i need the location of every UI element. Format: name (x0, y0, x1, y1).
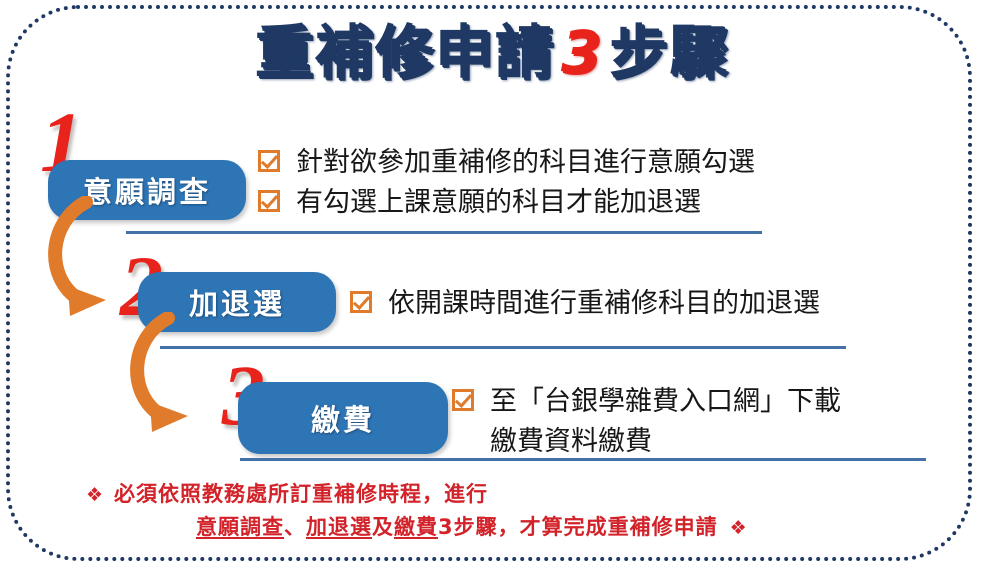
footer-note-tail: 3步驟，才算完成重補修申請 (438, 515, 718, 539)
footer-notes: ❖必須依照教務處所訂重補修時程，進行 意願調查、加退選及繳費3步驟，才算完成重補… (0, 478, 984, 544)
step-bullets-3: 至「台銀學雜費入口網」下載 繳費資料繳費 (452, 381, 841, 461)
step-bullets-1: 針對欲參加重補修的科目進行意願勾選 有勾選上課意願的科目才能加退選 (258, 142, 755, 222)
footer-link-intent-survey: 意願調查 (196, 515, 284, 539)
bullet-row: 至「台銀學雜費入口網」下載 繳費資料繳費 (452, 381, 841, 461)
bullet-text: 依開課時間進行重補修科目的加退選 (388, 283, 820, 323)
bullet-row: 有勾選上課意願的科目才能加退選 (258, 182, 755, 222)
poster-canvas: 重補修申請3步驟 1 2 3 意願調查 加退選 繳費 針對欲參加重補修的科目進行… (0, 0, 984, 571)
bullet-text: 有勾選上課意願的科目才能加退選 (296, 182, 701, 222)
footer-link-add-drop: 加退選 (306, 515, 372, 539)
checked-checkbox-icon (452, 389, 474, 411)
diamond-bullet-icon: ❖ (86, 484, 104, 506)
step-bullets-2: 依開課時間進行重補修科目的加退選 (350, 283, 820, 323)
page-title-prefix: 重補修申請 (255, 18, 555, 86)
page-title-number: 3 (561, 18, 603, 86)
bullet-text-group: 至「台銀學雜費入口網」下載 繳費資料繳費 (490, 381, 841, 461)
bullet-text-line-1: 至「台銀學雜費入口網」下載 (490, 386, 841, 416)
footer-note-line-1: ❖必須依照教務處所訂重補修時程，進行 (0, 478, 984, 511)
step-label-text-3: 繳費 (311, 397, 375, 439)
footer-sep-1: 、 (284, 515, 306, 539)
checked-checkbox-icon (350, 291, 372, 313)
checked-checkbox-icon (258, 190, 280, 212)
bullet-text-line-2: 繳費資料繳費 (490, 421, 841, 461)
step-divider-1 (126, 231, 762, 234)
footer-note-text-1: 必須依照教務處所訂重補修時程，進行 (114, 482, 488, 506)
bullet-row: 依開課時間進行重補修科目的加退選 (350, 283, 820, 323)
footer-link-payment: 繳費 (394, 515, 438, 539)
bullet-row: 針對欲參加重補修的科目進行意願勾選 (258, 142, 755, 182)
curved-arrow-icon-1 (40, 196, 170, 331)
step-divider-2 (160, 346, 846, 349)
bullet-text: 針對欲參加重補修的科目進行意願勾選 (296, 142, 755, 182)
checked-checkbox-icon (258, 150, 280, 172)
footer-note-line-2: 意願調查、加退選及繳費3步驟，才算完成重補修申請❖ (0, 511, 984, 544)
footer-sep-2: 及 (372, 515, 394, 539)
diamond-bullet-icon-end: ❖ (730, 517, 748, 539)
step-label-box-3[interactable]: 繳費 (238, 382, 448, 454)
page-title: 重補修申請3步驟 (0, 22, 984, 83)
page-title-suffix: 步驟 (609, 18, 729, 86)
curved-arrow-icon-2 (122, 312, 252, 447)
